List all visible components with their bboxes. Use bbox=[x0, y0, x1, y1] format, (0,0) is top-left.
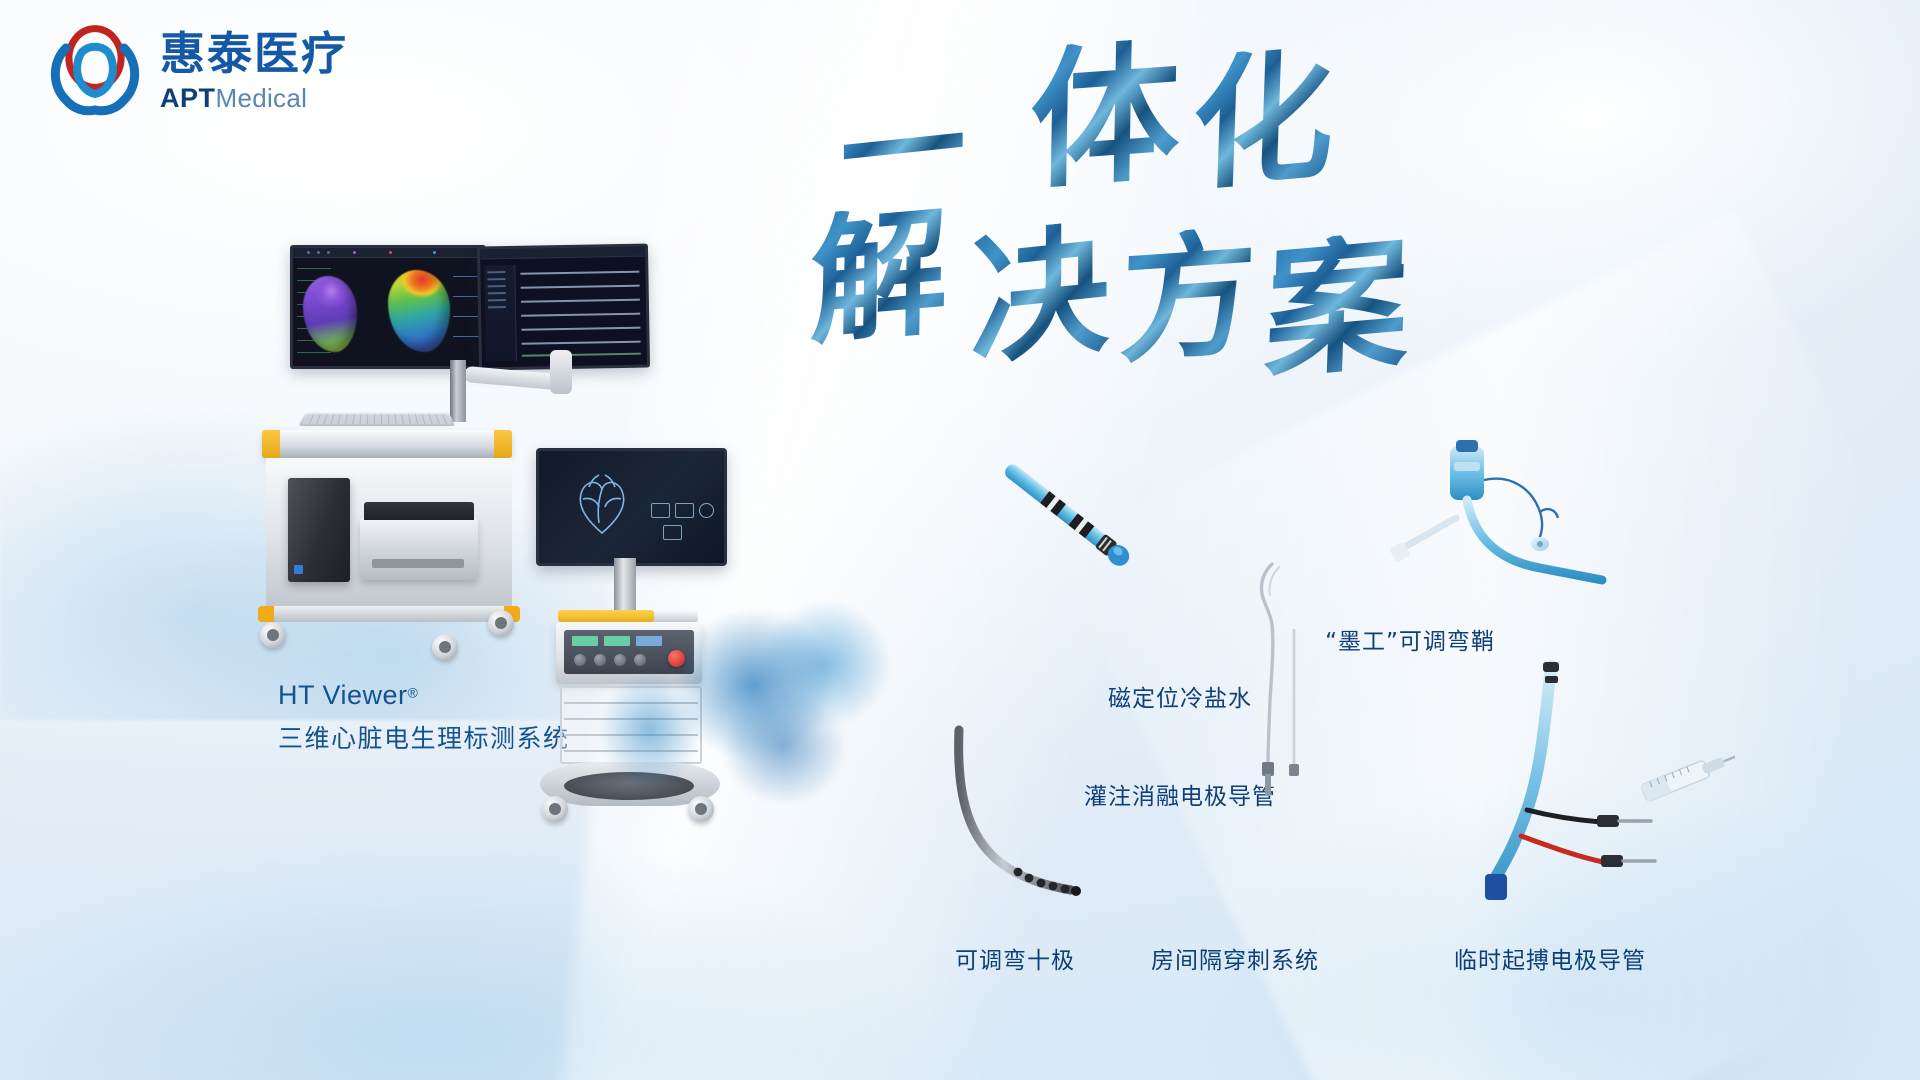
monitor-arm-joint bbox=[550, 350, 572, 394]
transseptal-puncture-system-photo bbox=[1210, 560, 1330, 800]
headline-calligraphy: 一 体 化 解 决 方 案 bbox=[960, 40, 1640, 360]
ecg-channel-list bbox=[484, 265, 517, 362]
worktop bbox=[262, 430, 512, 458]
ht-viewer-name-cn: 三维心脏电生理标测系统 bbox=[278, 719, 570, 755]
marketing-banner: 惠泰医疗 APT Medical 一 体 化 解 决 方 案 bbox=[0, 0, 1920, 1080]
caster-wheel bbox=[488, 610, 514, 636]
pc-tower bbox=[288, 478, 350, 582]
mapping-monitor-screen bbox=[293, 248, 483, 366]
caster-wheel bbox=[432, 634, 458, 660]
steerable-sheath-photo bbox=[1390, 440, 1610, 610]
ink-splash-decor-small bbox=[560, 640, 740, 820]
display-post bbox=[614, 558, 636, 612]
activation-map-3d bbox=[388, 270, 450, 352]
worktop-bumper-left bbox=[262, 430, 280, 458]
monitor-post bbox=[450, 360, 466, 422]
keyboard[interactable] bbox=[299, 413, 456, 427]
brand-name-en: APT Medical bbox=[160, 85, 348, 112]
worktop-bumper-right bbox=[494, 430, 512, 458]
brand-name-cn: 惠泰医疗 bbox=[160, 31, 348, 76]
ht-viewer-trademark: ® bbox=[408, 685, 419, 701]
brand-name-medical: Medical bbox=[216, 85, 308, 111]
caster-wheel bbox=[260, 622, 286, 648]
headline-char-7: 案 bbox=[1263, 229, 1412, 387]
monitor-arm bbox=[463, 366, 558, 390]
brand-logo: 惠泰医疗 APT Medical bbox=[46, 22, 348, 120]
mapping-toolbar bbox=[293, 248, 483, 258]
brand-name-apt: APT bbox=[160, 85, 216, 112]
headline-char-4: 解 bbox=[809, 202, 949, 353]
base-bumper-left bbox=[258, 606, 274, 622]
display-button-3[interactable] bbox=[663, 525, 682, 540]
ht-viewer-name-en: HT Viewer bbox=[278, 680, 408, 710]
headline-char-6: 方 bbox=[1118, 225, 1258, 371]
headline-char-3: 化 bbox=[1190, 43, 1336, 198]
heart-display-monitor bbox=[536, 448, 727, 566]
ecg-toolbar bbox=[480, 247, 645, 260]
ht-viewer-label: HT Viewer® 三维心脏电生理标测系统 bbox=[278, 680, 570, 755]
temporary-pacing-catheter-photo bbox=[1455, 660, 1735, 930]
brand-wordmark: 惠泰医疗 APT Medical bbox=[160, 31, 348, 112]
decapolar-catheter-photo bbox=[945, 720, 1095, 920]
mapping-monitor-left bbox=[290, 245, 486, 369]
power-icon[interactable] bbox=[699, 503, 714, 518]
display-button-1[interactable] bbox=[651, 503, 670, 518]
irrigated-ablation-catheter-photo bbox=[980, 440, 1160, 600]
cart-base bbox=[258, 606, 520, 622]
printer bbox=[360, 518, 478, 580]
transseptal-label: 房间隔穿刺系统 bbox=[1095, 945, 1375, 978]
ht-viewer-name-en-row: HT Viewer® bbox=[278, 680, 570, 711]
apt-medical-swirl-icon bbox=[46, 22, 144, 120]
display-button-2[interactable] bbox=[675, 503, 694, 518]
headline-char-2: 体 bbox=[1029, 36, 1181, 197]
heart-anatomy-icon bbox=[569, 465, 635, 545]
decapolar-catheter-label: 可调弯十极 bbox=[905, 945, 1125, 978]
temporary-pacing-label: 临时起搏电极导管 bbox=[1400, 945, 1700, 978]
ecg-waveforms bbox=[520, 263, 641, 361]
headline-char-5: 决 bbox=[970, 218, 1109, 373]
